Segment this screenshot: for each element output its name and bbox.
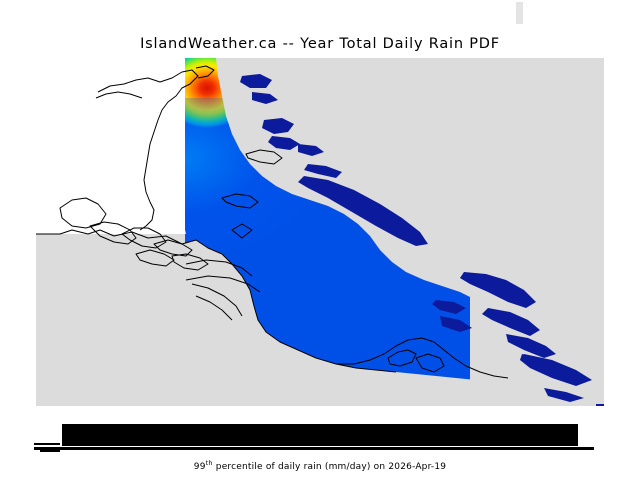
colorbar-tick-left (34, 443, 60, 445)
page-title: IslandWeather.ca -- Year Total Daily Rai… (0, 36, 640, 52)
colorbar (62, 424, 578, 446)
colorbar-caption: 99th percentile of daily rain (mm/day) o… (0, 459, 640, 472)
colorbar-gradient (62, 424, 578, 446)
caption-main-text: percentile of daily rain (mm/day) on (213, 462, 389, 472)
caption-date: 2026-Apr-19 (388, 462, 446, 472)
land-mask-overlay (36, 58, 604, 406)
caption-percentile-suffix: th (206, 459, 213, 467)
colorbar-tick-left-lower (40, 450, 60, 452)
colorbar-axis-line (34, 447, 594, 450)
outside-domain-water (36, 222, 186, 234)
map-panel (36, 58, 604, 406)
caption-percentile-number: 99 (194, 462, 206, 472)
colorbar-edge-shadow (516, 2, 523, 24)
